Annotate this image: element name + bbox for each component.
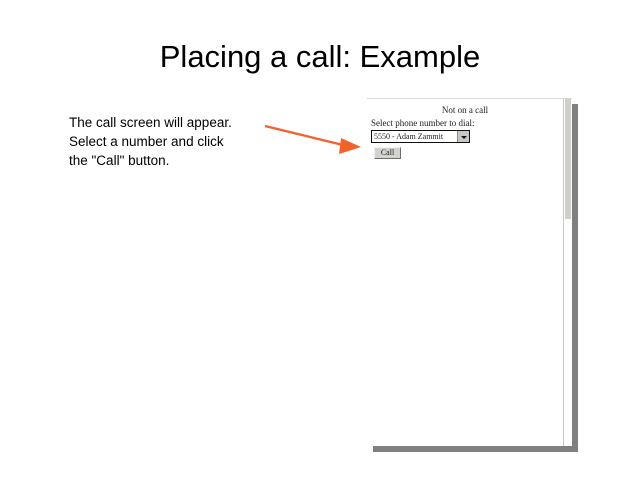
slide-body-text: The call screen will appear. Select a nu… (69, 113, 279, 170)
app-client-area: Not on a call Select phone number to dia… (367, 99, 563, 446)
presentation-slide: Placing a call: Example The call screen … (0, 0, 640, 480)
vertical-scrollbar[interactable] (563, 99, 572, 446)
chevron-down-icon[interactable] (457, 131, 469, 142)
body-line-2: Select a number and click (69, 132, 279, 151)
body-line-3: the "Call" button. (69, 151, 279, 170)
embedded-app-screenshot: Not on a call Select phone number to dia… (367, 98, 572, 446)
pointer-arrow-icon (263, 124, 373, 164)
page-title: Placing a call: Example (0, 38, 640, 76)
phone-number-field-label: Select phone number to dial: (371, 118, 474, 129)
call-status-text: Not on a call (367, 105, 563, 116)
body-line-1: The call screen will appear. (69, 113, 279, 132)
call-button[interactable]: Call (374, 147, 401, 159)
phone-number-select-value: 5550 - Adam Zammit (372, 131, 457, 142)
phone-number-select[interactable]: 5550 - Adam Zammit (371, 130, 470, 143)
scrollbar-thumb[interactable] (565, 99, 571, 219)
